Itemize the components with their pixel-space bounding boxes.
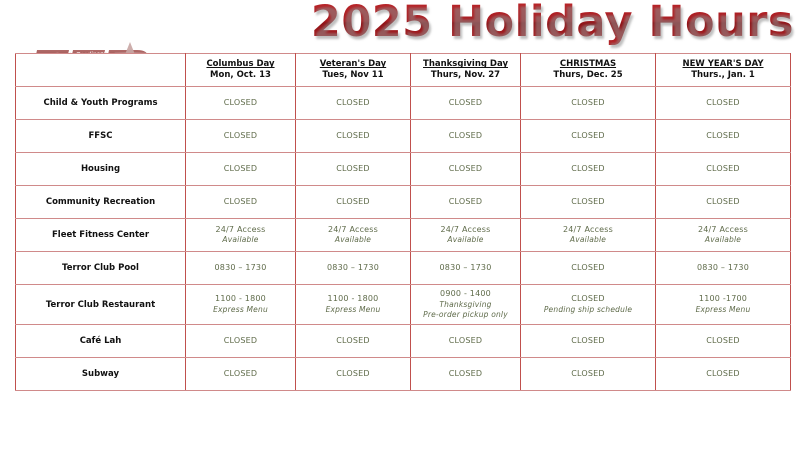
table-row: Community RecreationCLOSEDCLOSEDCLOSEDCL… [16, 186, 791, 219]
schedule-cell: CLOSED [521, 120, 656, 153]
table-header: Columbus Day Mon, Oct. 13 Veteran's Day … [16, 54, 791, 87]
schedule-cell: 0830 – 1730 [296, 252, 411, 285]
schedule-cell: CLOSED [521, 153, 656, 186]
cell-primary-text: CLOSED [521, 164, 655, 175]
cell-secondary-text: Available [186, 235, 295, 245]
row-label: Terror Club Restaurant [16, 285, 186, 325]
cell-primary-text: CLOSED [411, 369, 520, 380]
cell-primary-text: 0830 – 1730 [411, 263, 520, 274]
row-label: Café Lah [16, 325, 186, 358]
cell-primary-text: CLOSED [521, 131, 655, 142]
cell-secondary-text: Thanksgiving [411, 300, 520, 310]
column-header-name: NEW YEAR'S DAY [656, 59, 790, 70]
cell-primary-text: CLOSED [411, 336, 520, 347]
table-row: Terror Club Pool0830 – 17300830 – 173008… [16, 252, 791, 285]
cell-primary-text: 24/7 Access [411, 225, 520, 236]
schedule-cell: CLOSED [186, 153, 296, 186]
cell-primary-text: CLOSED [186, 164, 295, 175]
column-header-date: Thurs, Nov. 27 [411, 70, 520, 81]
cell-primary-text: CLOSED [296, 369, 410, 380]
cell-primary-text: CLOSED [186, 336, 295, 347]
schedule-cell: CLOSED [296, 87, 411, 120]
cell-primary-text: 1100 - 1800 [296, 294, 410, 305]
column-header-date: Tues, Nov 11 [296, 70, 410, 81]
schedule-cell: 24/7 AccessAvailable [411, 219, 521, 252]
row-label: Child & Youth Programs [16, 87, 186, 120]
schedule-cell: CLOSED [656, 325, 791, 358]
schedule-cell: CLOSED [411, 186, 521, 219]
schedule-cell: CLOSED [521, 186, 656, 219]
schedule-cell: 0830 – 1730 [656, 252, 791, 285]
column-header-name: CHRISTMAS [521, 59, 655, 70]
cell-primary-text: CLOSED [186, 131, 295, 142]
cell-secondary-text: Available [521, 235, 655, 245]
column-header-name: Veteran's Day [296, 59, 410, 70]
schedule-cell: CLOSED [296, 358, 411, 391]
schedule-cell: 1100 -1700Express Menu [656, 285, 791, 325]
schedule-cell: 1100 - 1800Express Menu [186, 285, 296, 325]
cell-secondary-text: Available [656, 235, 790, 245]
cell-primary-text: CLOSED [656, 197, 790, 208]
cell-primary-text: CLOSED [521, 197, 655, 208]
row-label: Subway [16, 358, 186, 391]
cell-primary-text: CLOSED [296, 98, 410, 109]
column-header-name: Columbus Day [186, 59, 295, 70]
cell-primary-text: CLOSED [186, 369, 295, 380]
cell-primary-text: 0830 – 1730 [296, 263, 410, 274]
schedule-cell: CLOSED [521, 358, 656, 391]
cell-secondary-text: Express Menu [656, 305, 790, 315]
schedule-cell: CLOSED [521, 87, 656, 120]
schedule-cell: CLOSED [411, 153, 521, 186]
cell-primary-text: CLOSED [656, 131, 790, 142]
cell-primary-text: CLOSED [521, 263, 655, 274]
cell-secondary-text: Express Menu [186, 305, 295, 315]
header-corner-cell [16, 54, 186, 87]
cell-primary-text: CLOSED [411, 131, 520, 142]
holiday-hours-table: Columbus Day Mon, Oct. 13 Veteran's Day … [15, 53, 791, 391]
cell-primary-text: CLOSED [296, 197, 410, 208]
cell-primary-text: 0900 - 1400 [411, 289, 520, 300]
schedule-cell: 24/7 AccessAvailable [521, 219, 656, 252]
cell-primary-text: 24/7 Access [521, 225, 655, 236]
schedule-cell: CLOSED [656, 358, 791, 391]
cell-tertiary-text: Pre-order pickup only [411, 310, 520, 320]
schedule-cell: CLOSED [656, 153, 791, 186]
row-label: Fleet Fitness Center [16, 219, 186, 252]
cell-primary-text: CLOSED [186, 98, 295, 109]
table-row: HousingCLOSEDCLOSEDCLOSEDCLOSEDCLOSED [16, 153, 791, 186]
column-header-columbus-day: Columbus Day Mon, Oct. 13 [186, 54, 296, 87]
row-label: Community Recreation [16, 186, 186, 219]
cell-secondary-text: Available [296, 235, 410, 245]
table-row: Café LahCLOSEDCLOSEDCLOSEDCLOSEDCLOSED [16, 325, 791, 358]
column-header-veterans-day: Veteran's Day Tues, Nov 11 [296, 54, 411, 87]
row-label: FFSC [16, 120, 186, 153]
schedule-cell: 0900 - 1400ThanksgivingPre-order pickup … [411, 285, 521, 325]
cell-secondary-text: Express Menu [296, 305, 410, 315]
schedule-cell: CLOSED [521, 252, 656, 285]
schedule-cell: CLOSED [296, 186, 411, 219]
schedule-cell: CLOSED [296, 325, 411, 358]
table-row: Child & Youth ProgramsCLOSEDCLOSEDCLOSED… [16, 87, 791, 120]
schedule-cell: CLOSED [411, 120, 521, 153]
schedule-cell: CLOSEDPending ship schedule [521, 285, 656, 325]
page-title: 2025 Holiday Hours [311, 0, 794, 48]
schedule-cell: 1100 - 1800Express Menu [296, 285, 411, 325]
cell-primary-text: 24/7 Access [296, 225, 410, 236]
cell-primary-text: 0830 – 1730 [656, 263, 790, 274]
schedule-cell: CLOSED [411, 325, 521, 358]
schedule-cell: CLOSED [521, 325, 656, 358]
schedule-cell: CLOSED [296, 120, 411, 153]
schedule-cell: CLOSED [656, 120, 791, 153]
schedule-cell: 24/7 AccessAvailable [656, 219, 791, 252]
cell-primary-text: CLOSED [521, 369, 655, 380]
schedule-cell: CLOSED [186, 186, 296, 219]
column-header-new-years-day: NEW YEAR'S DAY Thurs., Jan. 1 [656, 54, 791, 87]
cell-primary-text: CLOSED [296, 164, 410, 175]
cell-primary-text: 1100 - 1800 [186, 294, 295, 305]
schedule-cell: 0830 – 1730 [411, 252, 521, 285]
cell-primary-text: CLOSED [521, 98, 655, 109]
column-header-thanksgiving-day: Thanksgiving Day Thurs, Nov. 27 [411, 54, 521, 87]
row-label: Terror Club Pool [16, 252, 186, 285]
header-row: Columbus Day Mon, Oct. 13 Veteran's Day … [16, 54, 791, 87]
cell-primary-text: CLOSED [656, 336, 790, 347]
table-row: Terror Club Restaurant1100 - 1800Express… [16, 285, 791, 325]
column-header-date: Thurs., Jan. 1 [656, 70, 790, 81]
cell-primary-text: 24/7 Access [186, 225, 295, 236]
cell-primary-text: CLOSED [296, 336, 410, 347]
table-row: SubwayCLOSEDCLOSEDCLOSEDCLOSEDCLOSED [16, 358, 791, 391]
cell-primary-text: 0830 – 1730 [186, 263, 295, 274]
table-row: Fleet Fitness Center24/7 AccessAvailable… [16, 219, 791, 252]
schedule-cell: CLOSED [411, 358, 521, 391]
column-header-date: Thurs, Dec. 25 [521, 70, 655, 81]
schedule-cell: 24/7 AccessAvailable [186, 219, 296, 252]
cell-secondary-text: Pending ship schedule [521, 305, 655, 315]
cell-primary-text: 24/7 Access [656, 225, 790, 236]
cell-primary-text: CLOSED [521, 294, 655, 305]
cell-primary-text: CLOSED [521, 336, 655, 347]
schedule-cell: CLOSED [186, 358, 296, 391]
cell-secondary-text: Available [411, 235, 520, 245]
column-header-name: Thanksgiving Day [411, 59, 520, 70]
cell-primary-text: CLOSED [411, 197, 520, 208]
cell-primary-text: CLOSED [656, 369, 790, 380]
schedule-cell: CLOSED [186, 87, 296, 120]
cell-primary-text: 1100 -1700 [656, 294, 790, 305]
schedule-cell: CLOSED [656, 186, 791, 219]
table-body: Child & Youth ProgramsCLOSEDCLOSEDCLOSED… [16, 87, 791, 391]
cell-primary-text: CLOSED [186, 197, 295, 208]
schedule-cell: 24/7 AccessAvailable [296, 219, 411, 252]
schedule-cell: CLOSED [411, 87, 521, 120]
schedule-cell: CLOSED [186, 325, 296, 358]
cell-primary-text: CLOSED [296, 131, 410, 142]
schedule-cell: CLOSED [186, 120, 296, 153]
cell-primary-text: CLOSED [656, 164, 790, 175]
column-header-date: Mon, Oct. 13 [186, 70, 295, 81]
schedule-cell: CLOSED [656, 87, 791, 120]
schedule-cell: CLOSED [296, 153, 411, 186]
cell-primary-text: CLOSED [411, 164, 520, 175]
schedule-cell: 0830 – 1730 [186, 252, 296, 285]
cell-primary-text: CLOSED [411, 98, 520, 109]
column-header-christmas: CHRISTMAS Thurs, Dec. 25 [521, 54, 656, 87]
table-row: FFSCCLOSEDCLOSEDCLOSEDCLOSEDCLOSED [16, 120, 791, 153]
row-label: Housing [16, 153, 186, 186]
cell-primary-text: CLOSED [656, 98, 790, 109]
